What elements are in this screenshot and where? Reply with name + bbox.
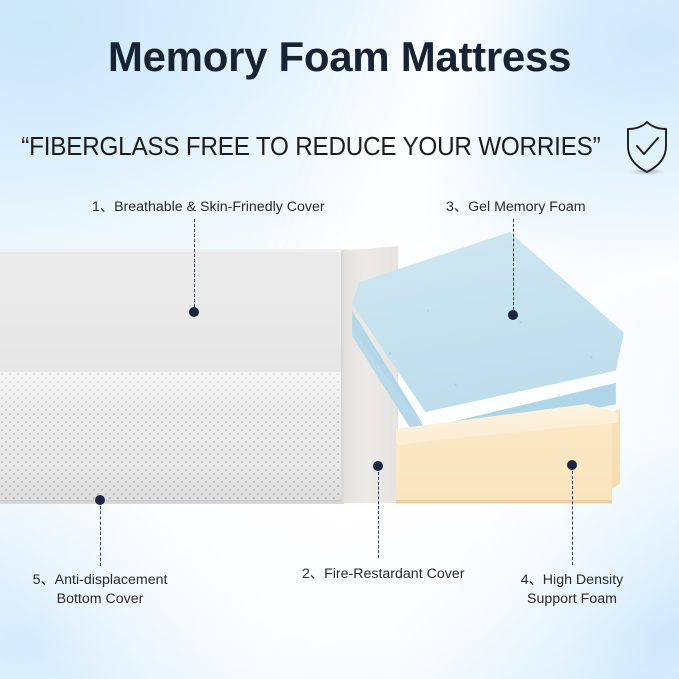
white-top-cover-face xyxy=(0,252,360,374)
callout-label-bottom-cover: 5、Anti-displacement Bottom Cover xyxy=(2,571,198,609)
callout-label-gel-memory-foam: 3、Gel Memory Foam xyxy=(446,198,586,217)
leader-dot-bottom-cover xyxy=(95,495,105,505)
leader-line-fire-retardant-cover xyxy=(378,472,379,558)
callout-label-fire-retardant-cover: 2、Fire-Restardant Cover xyxy=(302,565,464,584)
callout-label-support-foam-line2: Support Foam xyxy=(472,590,672,609)
white-cover-sheen xyxy=(0,372,344,504)
leader-line-bottom-cover xyxy=(100,506,101,566)
product-infographic: Memory Foam Mattress “FIBERGLASS FREE TO… xyxy=(0,0,679,679)
leader-line-breathable-cover xyxy=(194,219,195,307)
callout-label-bottom-cover-line2: Bottom Cover xyxy=(2,590,198,609)
callout-label-support-foam-line1: 4、High Density xyxy=(472,571,672,590)
leader-dot-gel-memory-foam xyxy=(508,310,518,320)
leader-line-gel-memory-foam xyxy=(513,219,514,310)
support-foam-base-edge xyxy=(396,500,612,503)
leader-dot-breathable-cover xyxy=(189,307,199,317)
leader-dot-support-foam xyxy=(567,460,577,470)
leader-dot-fire-retardant-cover xyxy=(373,461,383,471)
bottom-cover-edge xyxy=(0,500,344,503)
callout-label-breathable-cover: 1、Breathable & Skin-Frinedly Cover xyxy=(92,198,325,217)
callout-label-bottom-cover-line1: 5、Anti-displacement xyxy=(2,571,198,590)
leader-line-support-foam xyxy=(572,471,573,565)
callout-label-support-foam: 4、High Density Support Foam xyxy=(472,571,672,609)
